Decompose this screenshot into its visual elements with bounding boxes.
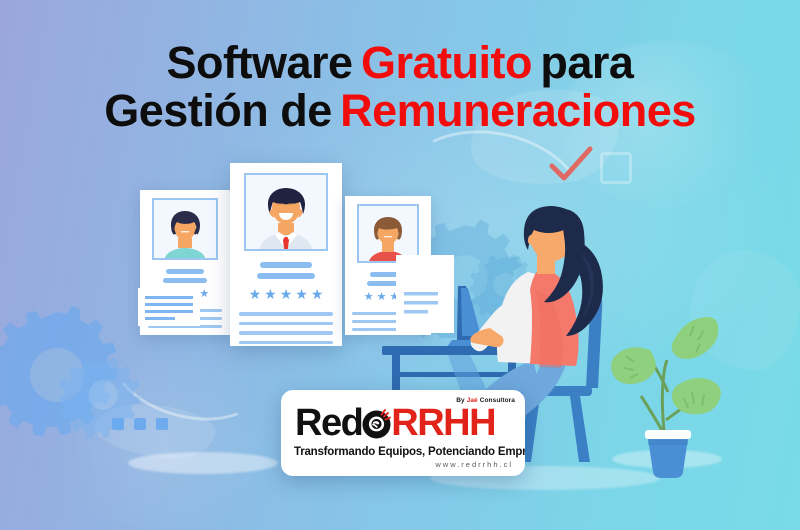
- logo-website-url[interactable]: www.redrrhh.cl: [435, 460, 513, 469]
- decorative-dots: [112, 418, 168, 430]
- detail-lines: [230, 301, 342, 344]
- avatar: [152, 198, 218, 260]
- headline-word: Gestión de: [104, 85, 332, 136]
- headline-word-highlight: Remuneraciones: [340, 85, 696, 136]
- handshake-icon: [361, 408, 392, 439]
- promo-banner: Software Gratuito para Gestión de Remune…: [0, 0, 800, 530]
- logo-wordmark: Red RRHH: [295, 404, 495, 442]
- name-bar: [260, 262, 312, 268]
- page-title: Software Gratuito para Gestión de Remune…: [0, 39, 800, 134]
- logo-word-red: Red: [295, 402, 362, 444]
- detail-lines: [345, 303, 431, 331]
- gear-icon: [470, 250, 540, 320]
- rating-stars: ★★★★★: [230, 287, 342, 301]
- floor-shadow: [612, 450, 722, 468]
- cv-card-center[interactable]: ★★★★★: [230, 163, 342, 346]
- headline-word: para: [540, 37, 633, 88]
- headline-line-1: Software Gratuito para: [0, 39, 800, 87]
- avatar: [244, 173, 328, 251]
- check-icon: [548, 146, 594, 188]
- checkmark-group: [548, 146, 594, 193]
- role-bar: [257, 273, 315, 279]
- cv-card-right[interactable]: ★★★★: [345, 196, 431, 335]
- name-bar: [370, 272, 406, 277]
- logo-word-rrhh: RRHH: [391, 402, 495, 444]
- background-shape: [690, 250, 800, 370]
- rating-stars: ★★★★: [140, 289, 230, 300]
- checkbox-outline-icon: [600, 152, 632, 184]
- logo-tagline: Transformando Equipos, Potenciando Empre…: [294, 446, 525, 458]
- role-bar: [367, 281, 409, 286]
- avatar: [357, 204, 419, 263]
- name-bar: [166, 269, 204, 274]
- headline-word: Software: [167, 37, 353, 88]
- rating-stars: ★★★★: [345, 292, 431, 303]
- brand-logo-card[interactable]: By Jaé Consultora Red RRHH Transforma: [281, 390, 525, 476]
- headline-line-2: Gestión de Remuneraciones: [0, 87, 800, 135]
- headline-word-highlight: Gratuito: [361, 37, 532, 88]
- role-bar: [163, 278, 207, 283]
- floor-shadow: [128, 452, 278, 474]
- detail-lines: [140, 300, 230, 328]
- cv-card-left[interactable]: ★★★★: [140, 190, 230, 335]
